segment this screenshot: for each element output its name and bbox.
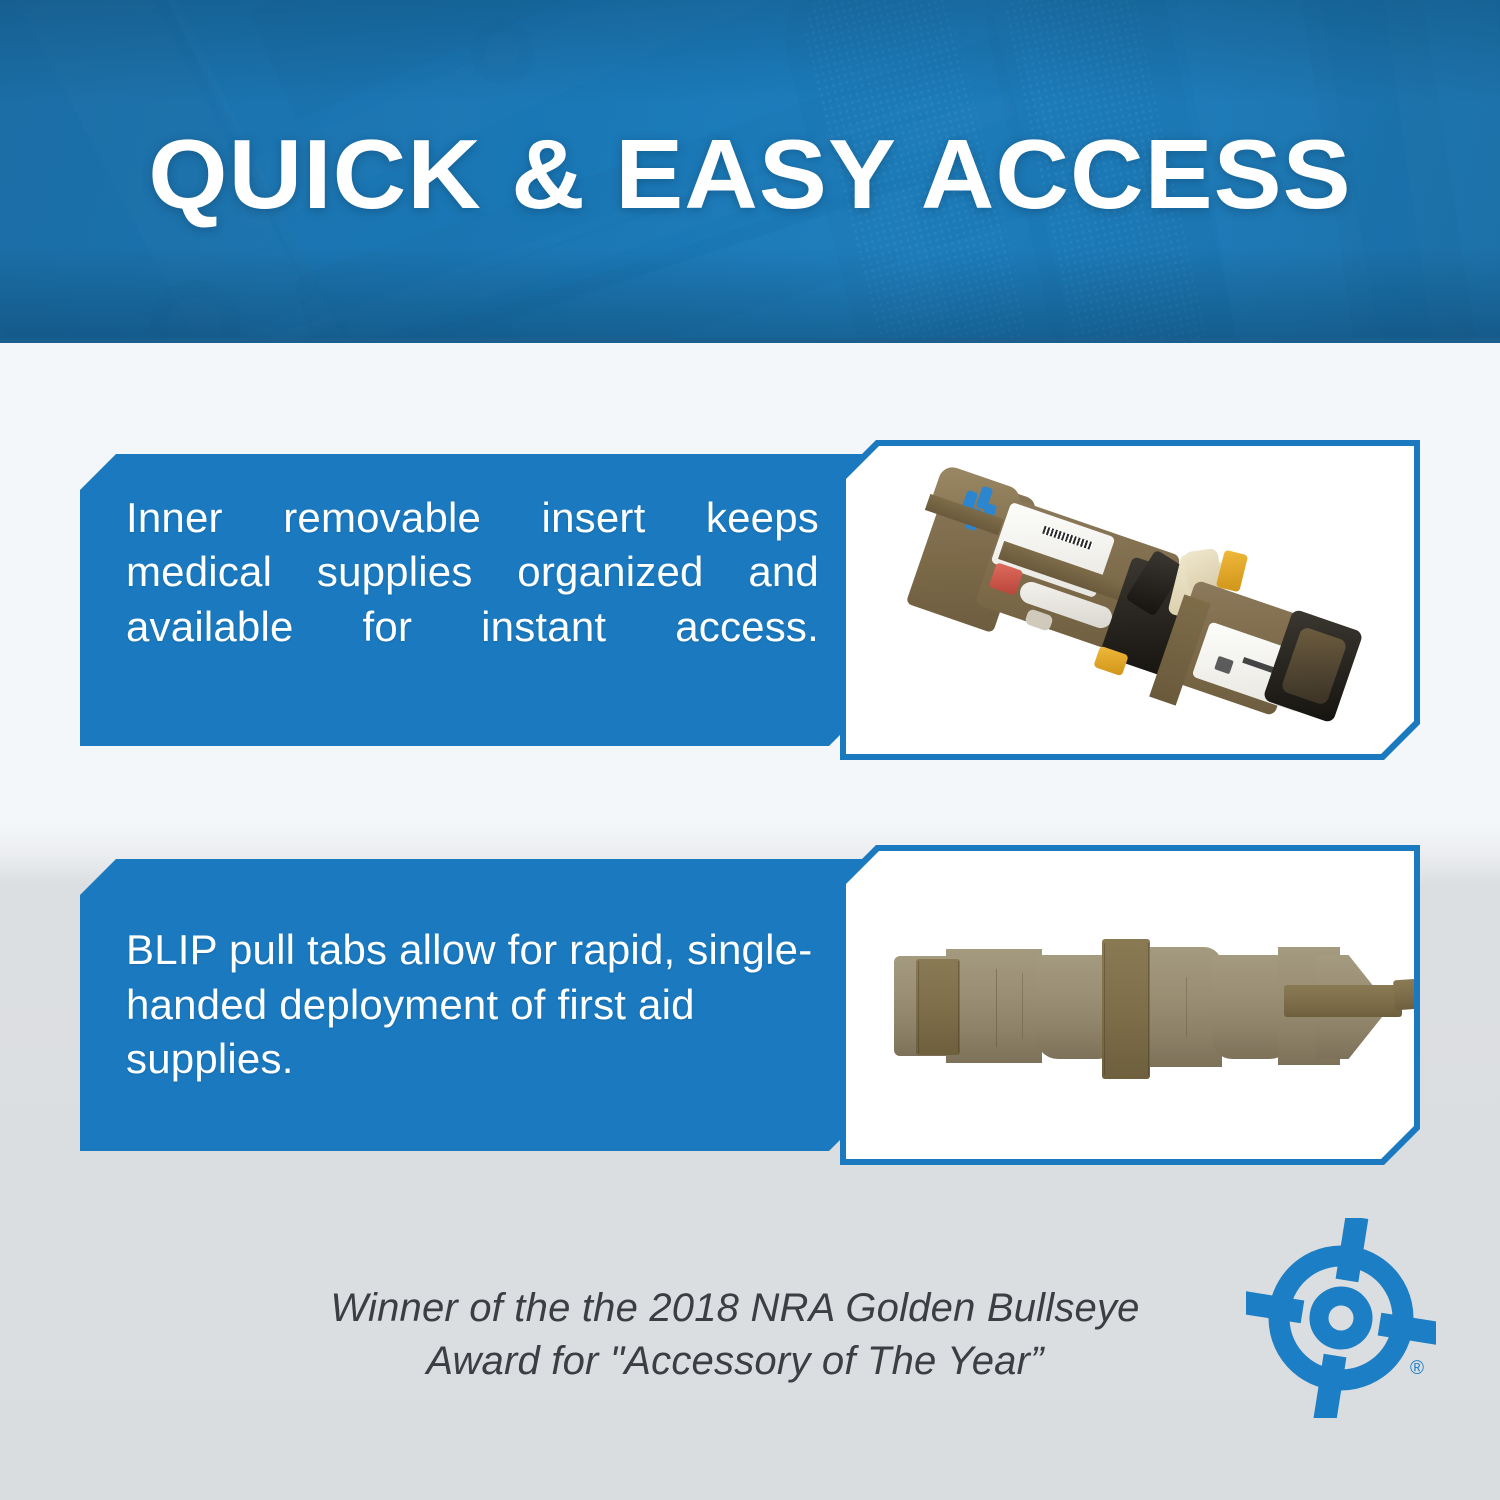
crosshair-target-logo: ®	[1246, 1218, 1436, 1418]
feature-image-card-1	[840, 440, 1420, 760]
award-line-2: Award for "Accessory of The Year”	[230, 1335, 1240, 1388]
page-title: QUICK & EASY ACCESS	[0, 125, 1500, 223]
feature-image-frame-1	[846, 446, 1414, 754]
infographic-page: QUICK & EASY ACCESS Inner removable inse…	[0, 0, 1500, 1500]
registered-trademark-mark: ®	[1410, 1358, 1424, 1380]
medical-insert-photo	[846, 446, 1414, 754]
feature-text-card-2: BLIP pull tabs allow for rapid, single-h…	[80, 859, 865, 1151]
blip-pull-tab-photo	[846, 851, 1414, 1159]
feature-image-card-2	[840, 845, 1420, 1165]
award-caption: Winner of the the 2018 NRA Golden Bullse…	[230, 1282, 1240, 1388]
feature-text-card-1: Inner removable insert keeps medical sup…	[80, 454, 865, 746]
header-banner: QUICK & EASY ACCESS	[0, 0, 1500, 343]
award-line-1: Winner of the the 2018 NRA Golden Bullse…	[230, 1282, 1240, 1335]
header-bottom-rule	[0, 338, 1500, 343]
feature-text-1: Inner removable insert keeps medical sup…	[80, 491, 865, 709]
feature-image-frame-2	[846, 851, 1414, 1159]
feature-text-2: BLIP pull tabs allow for rapid, single-h…	[80, 923, 865, 1087]
